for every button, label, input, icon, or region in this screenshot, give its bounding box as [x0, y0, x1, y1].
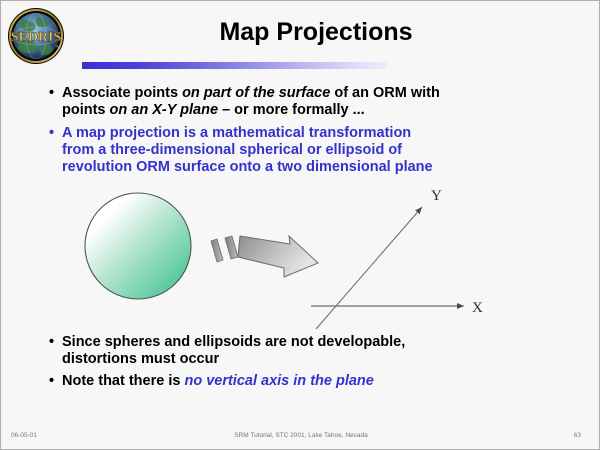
bullet-group-distortions: • Since spheres and ellipsoids are not d…	[47, 334, 567, 368]
title-gradient-rule	[82, 62, 387, 69]
projection-arrow-icon	[238, 236, 318, 277]
bullet-text-segment-italic: on part of the surface	[182, 85, 330, 101]
bullet-marker-icon: •	[49, 373, 54, 390]
bullet-text-segment: Note that there is	[62, 373, 184, 389]
y-axis-line	[316, 207, 422, 329]
bullet-line: distortions must occur	[47, 351, 567, 368]
bullet-text-segment-emphasis: no vertical axis in the plane	[184, 373, 373, 389]
bullet-line: points on an X-Y plane – or more formall…	[47, 102, 567, 119]
bullet-text-segment: – or more formally ...	[218, 102, 365, 118]
bullet-text-segment: A map projection is a mathematical trans…	[62, 125, 411, 141]
svg-text:™: ™	[55, 45, 60, 51]
sedris-logo: SEDRIS ™	[7, 7, 65, 65]
bullet-text-segment: Associate points	[62, 85, 182, 101]
bullet-text-segment: points	[62, 102, 110, 118]
arrow-tail-tick-1	[211, 239, 223, 262]
bullet-text-segment: distortions must occur	[62, 351, 219, 367]
bullet-text-segment-italic: on an X-Y plane	[110, 102, 219, 118]
bullet-text-segment: revolution ORM surface onto a two dimens…	[62, 159, 433, 175]
slide-canvas: SEDRIS ™ Map Projections • Associate poi…	[0, 0, 600, 450]
bullet-line: • Associate points on part of the surfac…	[47, 85, 567, 102]
bullet-marker-icon: •	[49, 85, 54, 102]
bullet-text-segment: Since spheres and ellipsoids are not dev…	[62, 334, 405, 350]
bullet-line: • Note that there is no vertical axis in…	[47, 373, 567, 390]
bullet-group-no-vertical-axis: • Note that there is no vertical axis in…	[47, 373, 567, 390]
bullet-group-associate-points: • Associate points on part of the surfac…	[47, 85, 567, 119]
bullet-text-segment: from a three-dimensional spherical or el…	[62, 142, 402, 158]
bullet-marker-icon: •	[49, 334, 54, 351]
x-axis-label: X	[472, 300, 483, 316]
y-axis-label: Y	[431, 188, 442, 204]
bullet-line: revolution ORM surface onto a two dimens…	[47, 159, 567, 176]
shaded-sphere	[85, 193, 191, 299]
bullet-text-segment: of an ORM with	[330, 85, 440, 101]
footer-page-number: 63	[1, 432, 581, 439]
bullet-marker-icon: •	[49, 125, 54, 142]
bullet-line: • A map projection is a mathematical tra…	[47, 125, 567, 142]
arrow-tail-tick-2	[225, 236, 238, 259]
bullet-line: from a three-dimensional spherical or el…	[47, 142, 567, 159]
bullet-line: • Since spheres and ellipsoids are not d…	[47, 334, 567, 351]
page-title: Map Projections	[81, 18, 551, 47]
logo-wordmark: SEDRIS	[11, 30, 62, 45]
bullet-group-map-projection-definition: • A map projection is a mathematical tra…	[47, 125, 567, 176]
